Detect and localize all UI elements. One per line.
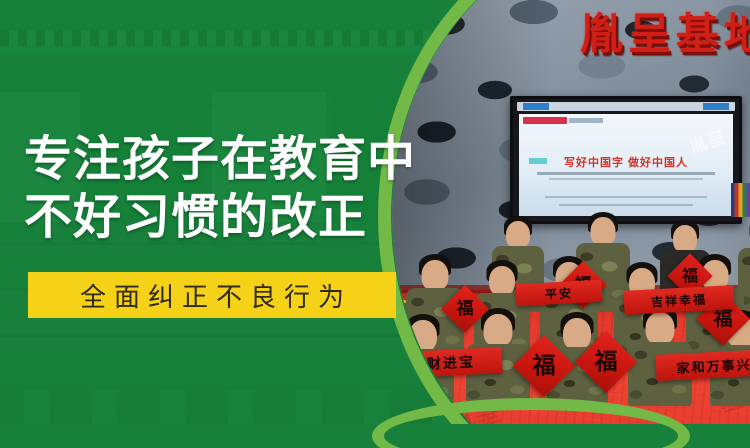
subtitle-bar: 全面纠正不良行为 xyxy=(28,272,396,318)
promo-banner: 胤呈基地 写好中国字 做好中国人 胤呈 xyxy=(0,0,750,448)
participants-group: 福 福 福 福 福 福 福 xyxy=(392,196,750,406)
fu-diamond: 福 xyxy=(441,285,489,333)
group-photo-mask: 胤呈基地 写好中国字 做好中国人 胤呈 xyxy=(392,0,750,448)
couplet-banner: 家和万事兴 xyxy=(655,349,750,381)
screen-slide-title: 写好中国字 做好中国人 xyxy=(519,154,733,170)
group-photo: 胤呈基地 写好中国字 做好中国人 胤呈 xyxy=(392,0,750,448)
fu-diamond: 福 xyxy=(513,335,575,397)
couplet-banner: 平安 xyxy=(515,280,602,306)
fu-diamond: 福 xyxy=(575,331,637,393)
headline-line-1: 专注孩子在教育中 xyxy=(24,130,416,188)
headline-block: 专注孩子在教育中 不好习惯的改正 xyxy=(24,130,416,246)
subtitle-text: 全面纠正不良行为 xyxy=(72,277,352,314)
base-sign-text: 胤呈基地 xyxy=(506,14,750,57)
headline-line-2: 不好习惯的改正 xyxy=(24,188,416,246)
